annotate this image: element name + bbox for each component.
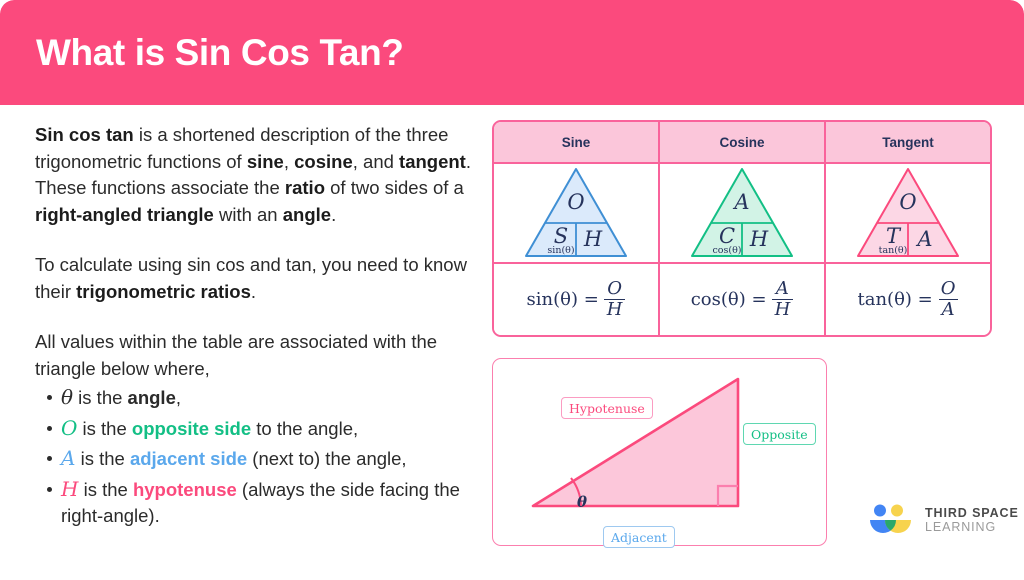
table-triangle-row: O S sin(θ) H A C cos(θ) H (494, 162, 990, 262)
p1-text-l: with an (214, 204, 283, 225)
cell-cosine-formula: cos(θ) = A H (660, 264, 826, 335)
logo-line-2: LEARNING (925, 520, 1019, 534)
tangent-formula-triangle: O T tan(θ) A (854, 164, 962, 262)
list-item: θ is the angle, (61, 384, 475, 412)
list-item: O is the opposite side to the angle, (61, 415, 475, 443)
bullet-term-hypotenuse: hypotenuse (133, 479, 237, 500)
p1-bold-sine: sine (247, 151, 284, 172)
p1-text-d: , (284, 151, 294, 172)
logo-blue-head (874, 505, 886, 517)
logo-line-1: THIRD SPACE (925, 506, 1019, 520)
fraction-numerator: A (773, 280, 792, 299)
bullet-pre-1: is the (77, 418, 132, 439)
p2-bold-trigonometric-ratios: trigonometric ratios (76, 281, 251, 302)
triangle-bottom-right-letter: H (583, 227, 603, 251)
list-item: A is the adjacent side (next to) the ang… (61, 445, 475, 473)
cell-cosine-triangle: A C cos(θ) H (660, 164, 826, 262)
column-header-cosine: Cosine (660, 122, 826, 162)
formula-fraction: A H (772, 280, 794, 320)
paragraph-1: Sin cos tan is a shortened description o… (35, 122, 475, 228)
triangle-top-letter: O (567, 190, 584, 214)
cosine-formula-triangle: A C cos(θ) H (688, 164, 796, 262)
logo-yellow-head (891, 505, 903, 517)
cell-tangent-triangle: O T tan(θ) A (826, 164, 990, 262)
bullets-lead-in: All values within the table are associat… (35, 329, 475, 382)
p1-bold-ratio: ratio (285, 177, 325, 198)
label-hypotenuse: Hypotenuse (561, 397, 653, 419)
label-opposite: Opposite (743, 423, 816, 445)
bullet-term-opposite-side: opposite side (132, 418, 251, 439)
p1-bold-cosine: cosine (294, 151, 353, 172)
bullet-symbol-o: O (61, 416, 77, 440)
bullet-symbol-theta: θ (61, 385, 73, 409)
p1-bold-tangent: tangent (399, 151, 466, 172)
formula-fraction: O A (938, 280, 959, 320)
triangle-top-letter: A (732, 190, 749, 214)
brand-logo: THIRD SPACE LEARNING (866, 503, 1019, 537)
formula-lhs: cos(θ) = (691, 289, 767, 310)
fraction-numerator: O (938, 280, 959, 299)
fraction-denominator: H (604, 299, 626, 319)
triangle-bottom-right-letter: A (915, 227, 932, 251)
cell-sine-triangle: O S sin(θ) H (494, 164, 660, 262)
label-theta-angle: θ (577, 493, 587, 511)
definitions-list: θ is the angle, O is the opposite side t… (35, 384, 475, 530)
cell-tangent-formula: tan(θ) = O A (826, 264, 990, 335)
infographic-page: What is Sin Cos Tan? Sin cos tan is a sh… (0, 0, 1024, 580)
triangle-top-letter: O (899, 190, 916, 214)
formula-cosine: cos(θ) = A H (691, 280, 794, 320)
bullet-symbol-a: A (61, 446, 75, 470)
column-header-sine: Sine (494, 122, 660, 162)
table-header-row: Sine Cosine Tangent (494, 122, 990, 162)
formula-sine: sin(θ) = O H (527, 280, 626, 320)
fraction-denominator: A (939, 299, 958, 319)
bullet-post-1: to the angle, (251, 418, 358, 439)
triangle-bottom-right-letter: H (749, 227, 769, 251)
triangle-bottom-left-sublabel: tan(θ) (879, 245, 908, 256)
formula-tangent: tan(θ) = O A (857, 280, 958, 320)
p1-text-f: , and (353, 151, 399, 172)
p1-bold-angle: angle (283, 204, 331, 225)
right-triangle-diagram-card: Hypotenuse Opposite Adjacent θ (492, 358, 827, 546)
fraction-numerator: O (604, 280, 625, 299)
column-header-tangent: Tangent (826, 122, 990, 162)
triangle-bottom-left-sublabel: cos(θ) (712, 245, 741, 256)
fraction-denominator: H (772, 299, 794, 319)
p1-bold-sin-cos-tan: Sin cos tan (35, 124, 134, 145)
bullet-post-0: , (176, 387, 181, 408)
sine-formula-triangle: O S sin(θ) H (522, 164, 630, 262)
page-title: What is Sin Cos Tan? (36, 32, 404, 74)
trig-ratio-table: Sine Cosine Tangent O S sin(θ) H (492, 120, 992, 337)
logo-wordmark: THIRD SPACE LEARNING (925, 506, 1019, 535)
bullet-post-2: (next to) the angle, (247, 448, 406, 469)
bullet-pre-3: is the (78, 479, 133, 500)
bullet-term-adjacent-side: adjacent side (130, 448, 247, 469)
bullet-term-angle: angle (128, 387, 176, 408)
bullet-pre-0: is the (73, 387, 128, 408)
formula-lhs: sin(θ) = (527, 289, 599, 310)
p1-text-j: of two sides of a (325, 177, 464, 198)
bullet-symbol-h: H (61, 477, 78, 501)
table-formula-row: sin(θ) = O H cos(θ) = A H (494, 262, 990, 335)
formula-fraction: O H (604, 280, 626, 320)
paragraph-2: To calculate using sin cos and tan, you … (35, 252, 475, 305)
p1-bold-right-angled-triangle: right-angled triangle (35, 204, 214, 225)
triangle-bottom-left-sublabel: sin(θ) (547, 245, 574, 256)
cell-sine-formula: sin(θ) = O H (494, 264, 660, 335)
bullet-pre-2: is the (75, 448, 130, 469)
left-text-column: Sin cos tan is a shortened description o… (35, 122, 475, 533)
list-item: H is the hypotenuse (always the side fac… (61, 476, 475, 530)
third-space-learning-mark-icon (866, 503, 914, 537)
right-triangle-diagram (493, 359, 824, 543)
formula-lhs: tan(θ) = (857, 289, 932, 310)
p1-text-n: . (331, 204, 336, 225)
page-header: What is Sin Cos Tan? (0, 0, 1024, 105)
label-adjacent: Adjacent (603, 526, 675, 548)
p2-text-c: . (251, 281, 256, 302)
